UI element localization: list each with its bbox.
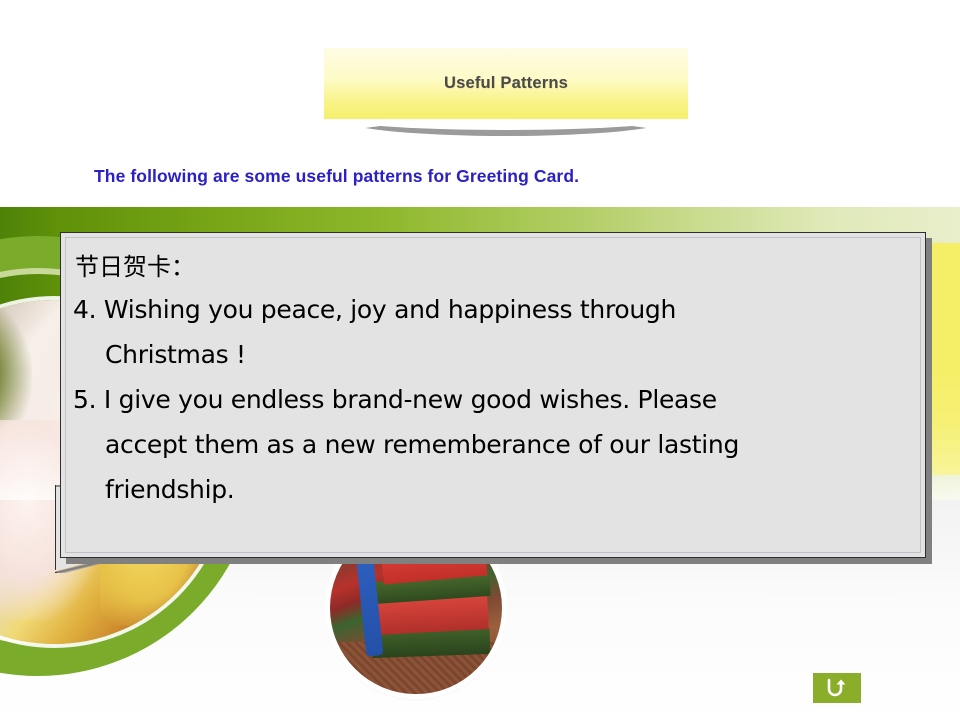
return-button[interactable] xyxy=(813,673,861,703)
pattern-item-4: 4. Wishing you peace, joy and happiness … xyxy=(71,287,905,377)
title-plaque: Useful Patterns xyxy=(324,48,688,119)
callout-box: 节日贺卡： 4. Wishing you peace, joy and happ… xyxy=(60,232,926,558)
pattern-item-5-line3: friendship. xyxy=(73,467,905,512)
slide-subtitle: The following are some useful patterns f… xyxy=(94,166,579,187)
pattern-item-5-line2: accept them as a new rememberance of our… xyxy=(73,422,905,467)
return-arrow-icon xyxy=(824,677,850,699)
pattern-item-4-number: 4. xyxy=(73,295,96,324)
callout-content: 节日贺卡： 4. Wishing you peace, joy and happ… xyxy=(61,233,925,557)
pattern-item-5-number: 5. xyxy=(73,385,96,414)
pattern-item-5-line1: I give you endless brand-new good wishes… xyxy=(104,385,717,414)
page-title: Useful Patterns xyxy=(324,48,688,119)
pattern-item-4-line2: Christmas ! xyxy=(73,332,905,377)
slide-canvas: Useful Patterns The following are some u… xyxy=(0,0,960,720)
pattern-item-5: 5. I give you endless brand-new good wis… xyxy=(71,377,905,512)
callout-heading: 节日贺卡： xyxy=(71,247,905,287)
pattern-item-4-line1: Wishing you peace, joy and happiness thr… xyxy=(104,295,676,324)
